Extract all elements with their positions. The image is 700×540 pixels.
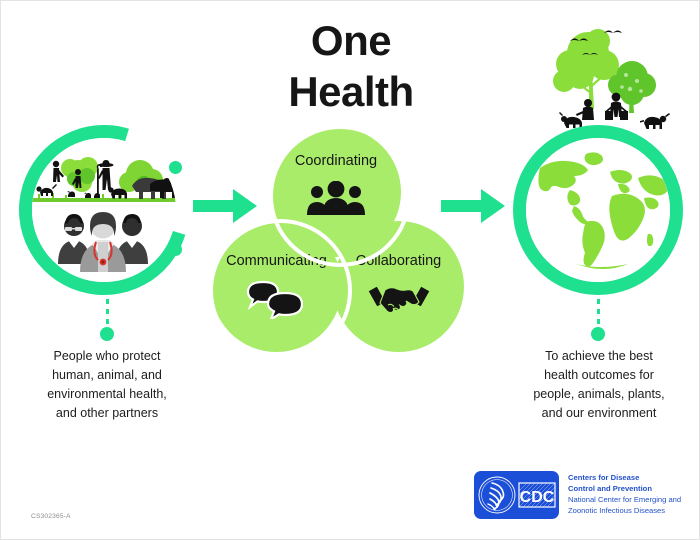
right-connector-line xyxy=(597,289,600,329)
circle-coordinating-label: Coordinating xyxy=(295,153,377,169)
one-health-infographic: One Health xyxy=(0,0,700,540)
right-caption-line-3: people, animals, plants, xyxy=(507,385,691,404)
right-globe-group xyxy=(513,125,683,295)
right-connector-dot xyxy=(591,327,605,341)
cdc-logo-mark: CDC xyxy=(474,471,559,519)
publication-id: CS302365-A xyxy=(31,513,71,520)
left-caption-line-1: People who protect xyxy=(19,347,195,366)
left-caption: People who protect human, animal, and en… xyxy=(19,347,195,423)
cdc-text-line-4: Zoonotic Infectious Diseases xyxy=(568,506,681,517)
right-caption-line-1: To achieve the best xyxy=(507,347,691,366)
left-caption-line-3: environmental health, xyxy=(19,385,195,404)
globe-map xyxy=(526,138,670,282)
world-map-svg xyxy=(526,138,670,282)
arrow-right-icon-2 xyxy=(441,187,507,225)
circle-communicating[interactable]: Communicating xyxy=(211,221,342,352)
cdc-text-line-2: Control and Prevention xyxy=(568,484,681,495)
hhs-seal-and-cdc-icon: CDC xyxy=(474,471,559,519)
people-with-animals-svg xyxy=(32,138,176,282)
people-group-icon xyxy=(305,181,367,215)
left-caption-line-2: human, animal, and xyxy=(19,366,195,385)
handshake-icon xyxy=(366,279,432,317)
right-caption-line-4: and our environment xyxy=(507,404,691,423)
cdc-mark-text: CDC xyxy=(520,489,555,506)
circle-communicating-label: Communicating xyxy=(226,253,327,269)
arrow-right-2 xyxy=(441,187,507,230)
trees-birds-people-animals-svg xyxy=(544,19,674,131)
center-circles-group: Coordinating Communicating xyxy=(211,127,476,352)
ring-cap-bottom xyxy=(169,243,182,256)
cdc-text-line-1: Centers for Disease xyxy=(568,473,681,484)
speech-bubbles-icon xyxy=(244,279,310,319)
ring-cap-top xyxy=(169,161,182,174)
left-connector-dot xyxy=(100,327,114,341)
right-caption-line-2: health outcomes for xyxy=(507,366,691,385)
left-scene-illustration xyxy=(32,138,176,282)
left-connector-line xyxy=(106,289,109,329)
circle-collaborating-label: Collaborating xyxy=(356,253,441,269)
cdc-logo: CDC Centers for Disease Control and Prev… xyxy=(474,471,681,519)
right-caption: To achieve the best health outcomes for … xyxy=(507,347,691,423)
globe-top-scene xyxy=(544,19,674,131)
left-circle-group xyxy=(19,125,189,295)
circle-collaborating[interactable]: Collaborating xyxy=(333,221,464,352)
cdc-text-line-3: National Center for Emerging and xyxy=(568,495,681,506)
left-caption-line-4: and other partners xyxy=(19,404,195,423)
cdc-agency-text: Centers for Disease Control and Preventi… xyxy=(568,473,681,516)
